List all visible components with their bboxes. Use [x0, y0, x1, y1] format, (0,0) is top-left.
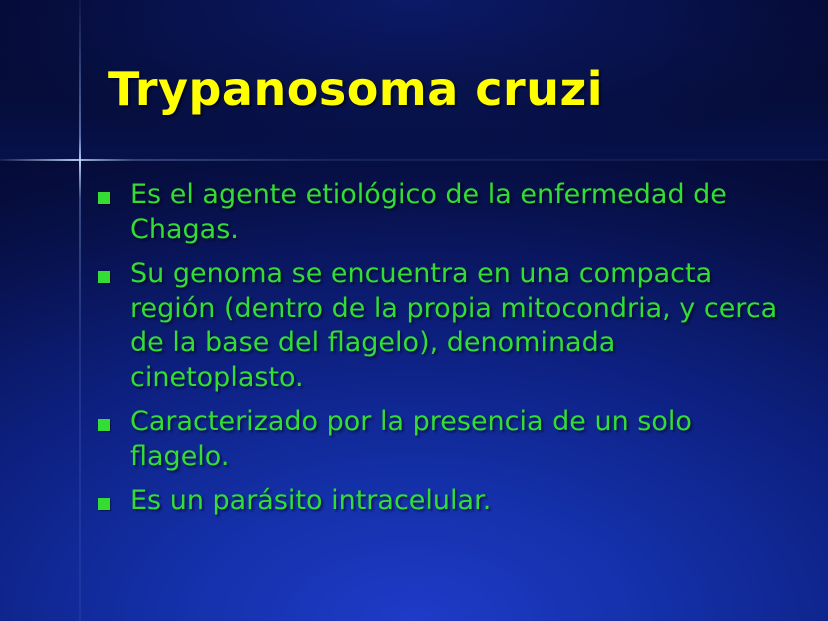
list-item-text: Caracterizado por la presencia de un sol…	[130, 406, 692, 472]
bullet-square-icon	[98, 271, 110, 283]
horizontal-divider-line	[0, 159, 828, 161]
bullet-square-icon	[98, 498, 110, 510]
list-item: Caracterizado por la presencia de un sol…	[94, 405, 784, 474]
list-item: Es el agente etiológico de la enfermedad…	[94, 178, 784, 247]
slide-title: Trypanosoma cruzi	[108, 62, 603, 116]
list-item-text: Su genoma se encuentra en una compacta r…	[130, 258, 777, 393]
bullet-square-icon	[98, 192, 110, 204]
presentation-slide: Trypanosoma cruzi Es el agente etiológic…	[0, 0, 828, 621]
bullet-square-icon	[98, 419, 110, 431]
bullet-list: Es el agente etiológico de la enfermedad…	[94, 178, 784, 529]
vertical-divider-line	[79, 0, 81, 621]
list-item: Su genoma se encuentra en una compacta r…	[94, 257, 784, 395]
list-item-text: Es un parásito intracelular.	[130, 485, 491, 516]
list-item: Es un parásito intracelular.	[94, 484, 784, 519]
list-item-text: Es el agente etiológico de la enfermedad…	[130, 179, 727, 245]
